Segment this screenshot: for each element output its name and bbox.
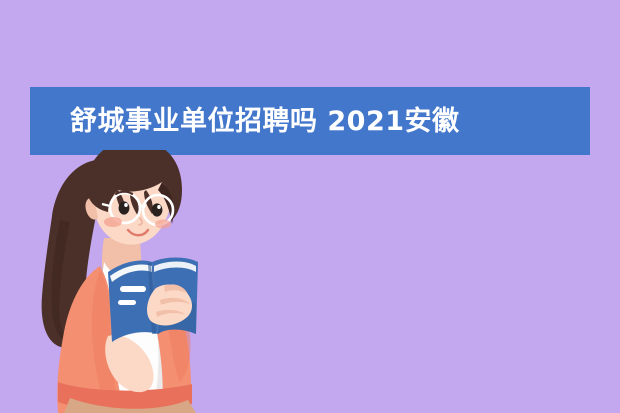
woman-reading-book-illustration — [0, 150, 300, 413]
eye-left — [119, 201, 130, 214]
page-title: 舒城事业单位招聘吗 2021安徽 — [70, 108, 460, 135]
title-banner: 舒城事业单位招聘吗 2021安徽 — [30, 87, 590, 155]
eye-right — [152, 203, 163, 216]
eye-right-highlight — [157, 205, 161, 209]
article-thumbnail-card: 舒城事业单位招聘吗 2021安徽 — [0, 0, 620, 413]
book-text-line-2 — [118, 300, 136, 305]
book-text-line-1 — [120, 286, 146, 292]
blush-right — [155, 220, 171, 229]
eye-left-highlight — [124, 203, 128, 207]
blush-left — [104, 217, 122, 227]
